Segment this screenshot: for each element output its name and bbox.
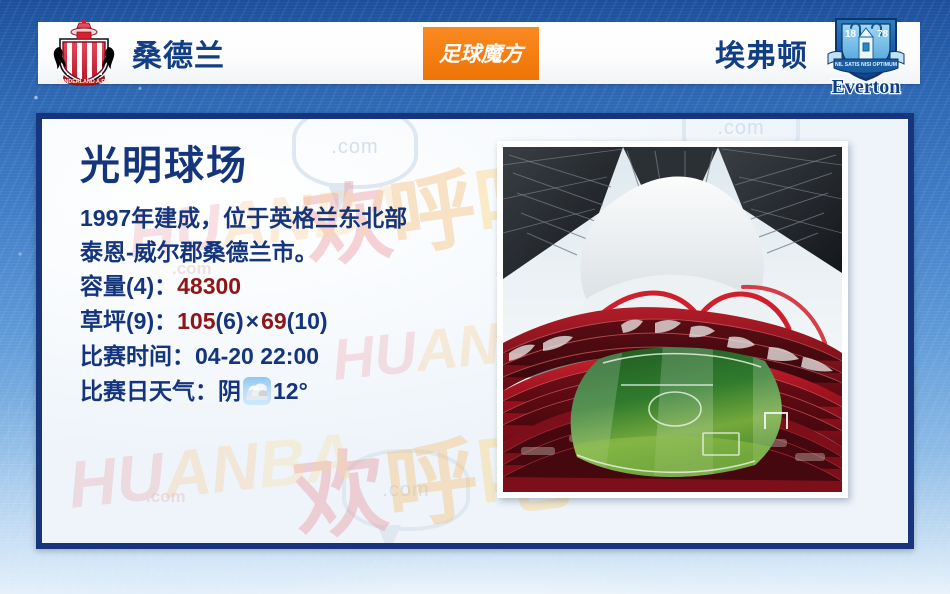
away-team-block[interactable]: 埃弗顿 xyxy=(545,22,920,84)
home-team-block[interactable]: SUNDERLAND A.F.C. 桑德兰 xyxy=(38,22,417,84)
stadium-info-card: .com .com .com 欢呼吧 欢呼吧 HUANBA xyxy=(36,113,914,549)
capacity-row: 容量(4)： 48300 xyxy=(80,269,500,304)
stadium-info-card-body: .com .com .com 欢呼吧 欢呼吧 HUANBA xyxy=(42,119,908,543)
match-time-row: 比赛时间： 04-20 22:00 xyxy=(80,339,500,374)
watermark-bubble-text-3: .com xyxy=(382,479,429,502)
match-time-label: 比赛时间： xyxy=(80,339,195,374)
match-weather-row: 比赛日天气： 阴 xyxy=(80,374,500,409)
stadium-description-line-2: 泰恩-威尔郡桑德兰市。 xyxy=(80,235,500,269)
sunderland-crest-icon: SUNDERLAND A.F.C. xyxy=(50,19,118,87)
pitch-length-value: 105 xyxy=(177,304,215,339)
match-time-value: 04-20 22:00 xyxy=(195,339,319,374)
watermark-bubble-text-2: .com xyxy=(717,119,764,140)
watermark-dotcom-bottom-left: .com xyxy=(146,487,186,507)
everton-crest-icon: 18 78 NIL SATIS NISI OPTIMUM Everton xyxy=(820,9,912,97)
everton-crest-year-left: 18 xyxy=(845,29,857,40)
pitch-width-rank: (10) xyxy=(287,304,328,339)
match-weather-label: 比赛日天气： xyxy=(80,374,218,409)
cloudy-weather-icon xyxy=(243,377,271,405)
match-weather-temperature: 12° xyxy=(273,374,308,409)
capacity-label: 容量(4)： xyxy=(80,269,177,304)
capacity-value: 48300 xyxy=(177,269,241,304)
pitch-length-rank: (6) xyxy=(216,304,244,339)
pitch-label: 草坪(9)： xyxy=(80,304,177,339)
match-header-bar: SUNDERLAND A.F.C. 桑德兰 足球魔方 埃弗顿 xyxy=(38,22,920,84)
match-weather-condition: 阴 xyxy=(218,374,241,409)
match-stadium-infographic: SUNDERLAND A.F.C. 桑德兰 足球魔方 埃弗顿 xyxy=(0,0,950,594)
everton-crest-caption: Everton xyxy=(832,76,901,97)
everton-crest-year-right: 78 xyxy=(877,29,889,40)
away-team-name: 埃弗顿 xyxy=(715,31,808,75)
stadium-description-line-1: 1997年建成，位于英格兰东北部 xyxy=(80,201,500,235)
stadium-photo-frame[interactable] xyxy=(497,141,848,498)
stadium-info-block: 光明球场 1997年建成，位于英格兰东北部 泰恩-威尔郡桑德兰市。 容量(4)：… xyxy=(80,145,500,409)
pitch-row: 草坪(9)： 105 (6) × 69 (10) xyxy=(80,304,500,339)
everton-crest-motto: NIL SATIS NISI OPTIMUM xyxy=(835,62,897,68)
home-team-name: 桑德兰 xyxy=(132,31,225,75)
watermark-speech-bubble-bottom: .com xyxy=(342,449,470,531)
pitch-width-value: 69 xyxy=(261,304,287,339)
site-logo-text: 足球魔方 xyxy=(439,38,523,68)
watermark-brand-latin-bottom-left: HUANBA xyxy=(65,422,356,518)
sunderland-crest-caption: SUNDERLAND A.F.C. xyxy=(57,79,112,85)
stadium-title: 光明球场 xyxy=(80,145,500,187)
stadium-photo xyxy=(503,147,842,492)
pitch-dimension-separator: × xyxy=(244,304,261,339)
site-logo-badge[interactable]: 足球魔方 xyxy=(423,27,539,80)
